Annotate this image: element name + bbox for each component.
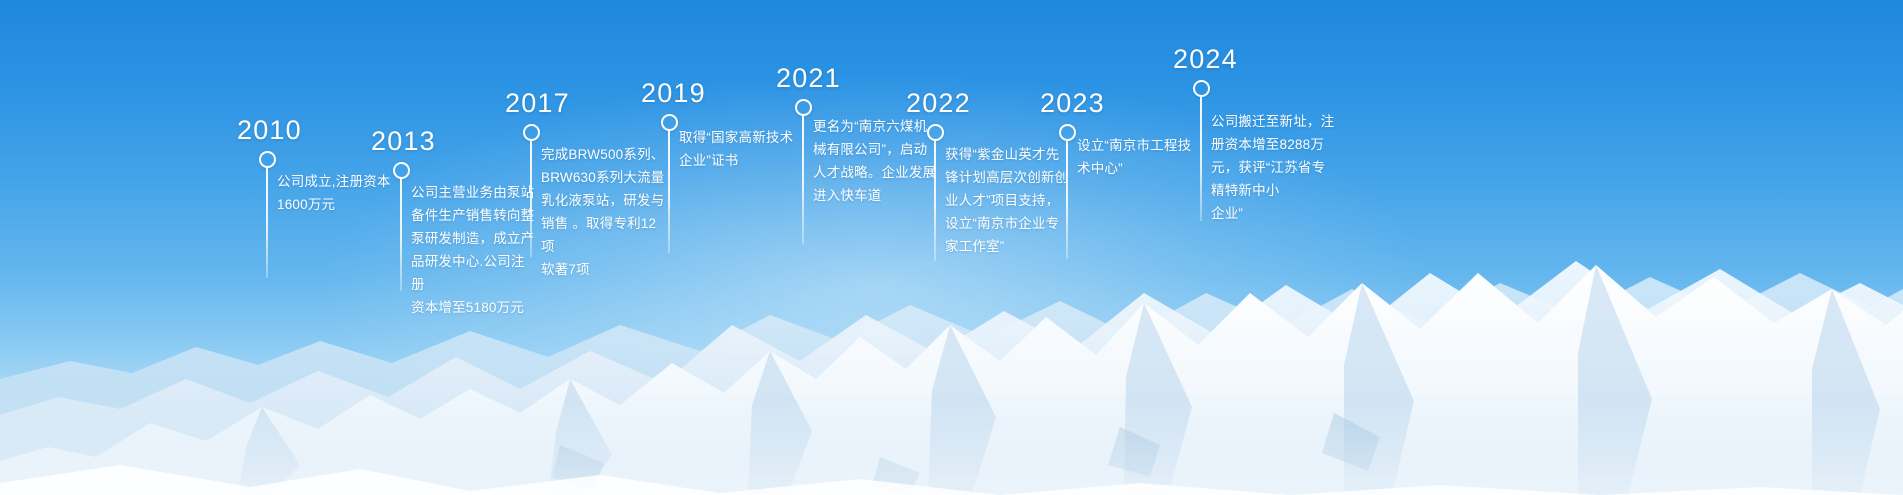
milestone-dot-2024[interactable]: [1193, 80, 1210, 97]
milestone-year-2022: 2022: [906, 88, 971, 119]
milestone-description-2022: 获得“紫金山英才先 锋计划高层次创新创 业人才”项目支持， 设立“南京市企业专 …: [945, 143, 1069, 258]
milestone-year-2023: 2023: [1040, 88, 1105, 119]
milestone-year-2019: 2019: [641, 78, 706, 109]
milestone-dot-2022[interactable]: [927, 124, 944, 141]
milestone-description-2024: 公司搬迁至新址，注 册资本增至8288万 元，获评“江苏省专 精特新中小 企业”: [1211, 110, 1335, 225]
milestone-description-2021: 更名为“南京六煤机 械有限公司”，启动 人才战略。企业发展 进入快车道: [813, 115, 937, 207]
milestone-year-2010: 2010: [237, 115, 302, 146]
milestone-stem-2024: [1200, 97, 1202, 221]
milestone-year-2021: 2021: [776, 63, 841, 94]
milestone-stem-2019: [668, 131, 670, 253]
milestone-stem-2010: [266, 168, 268, 278]
milestone-stem-2023: [1066, 141, 1068, 259]
milestone-stem-2017: [530, 141, 532, 257]
milestone-description-2023: 设立“南京市工程技 术中心”: [1077, 134, 1201, 180]
milestone-stem-2013: [400, 179, 402, 291]
milestone-year-2013: 2013: [371, 126, 436, 157]
milestone-year-2024: 2024: [1173, 44, 1238, 75]
milestone-dot-2010[interactable]: [259, 151, 276, 168]
milestone-description-2013: 公司主营业务由泵站 备件生产销售转向整 泵研发制造，成立产 品研发中心.公司注册…: [411, 181, 535, 319]
milestone-description-2019: 取得“国家高新技术 企业”证书: [679, 126, 803, 172]
milestone-dot-2023[interactable]: [1059, 124, 1076, 141]
milestone-dot-2019[interactable]: [661, 114, 678, 131]
milestone-year-2017: 2017: [505, 88, 570, 119]
milestone-dot-2013[interactable]: [393, 162, 410, 179]
milestone-dot-2017[interactable]: [523, 124, 540, 141]
timeline-infographic: 2010 公司成立,注册资本 1600万元 2013 公司主营业务由泵站 备件生…: [0, 0, 1903, 495]
milestone-stem-2021: [802, 116, 804, 244]
milestone-stem-2022: [934, 141, 936, 261]
milestone-description-2017: 完成BRW500系列、 BRW630系列大流量 乳化液泵站，研发与 销售 。取得…: [541, 143, 665, 281]
milestone-dot-2021[interactable]: [795, 99, 812, 116]
